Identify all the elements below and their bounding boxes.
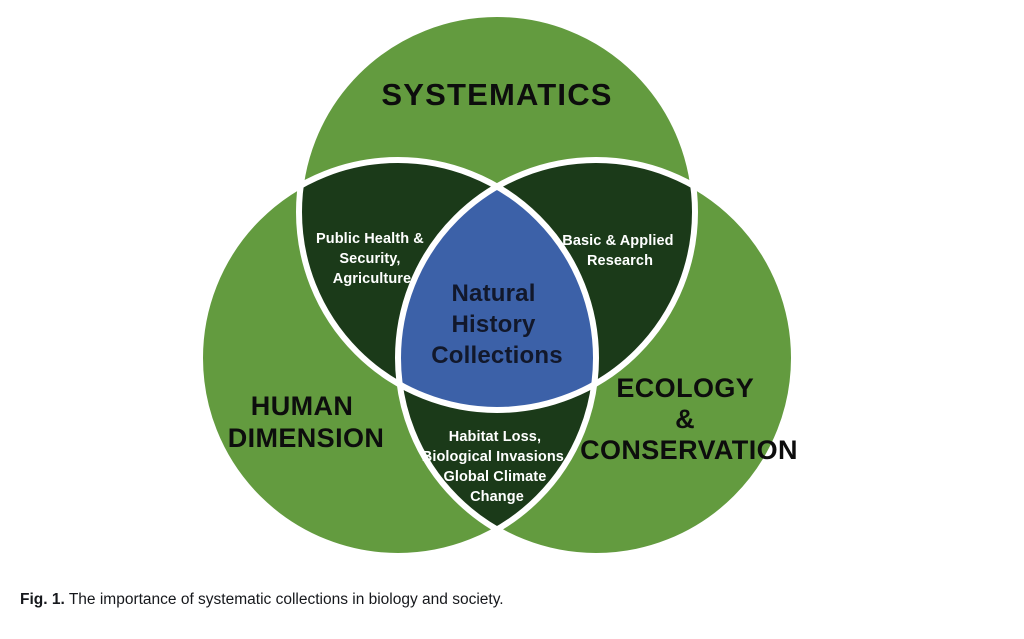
caption-label: Fig. 1. [20,591,65,608]
venn-diagram: SYSTEMATICS HUMAN DIMENSION ECOLOGY & CO… [0,0,1024,570]
figure-caption-bar: Fig. 1. The importance of systematic col… [0,572,1024,639]
figure-caption: Fig. 1. The importance of systematic col… [20,590,504,611]
figure-root: SYSTEMATICS HUMAN DIMENSION ECOLOGY & CO… [0,0,1024,639]
label-systematics: SYSTEMATICS [381,77,612,112]
venn-svg: SYSTEMATICS HUMAN DIMENSION ECOLOGY & CO… [0,0,1024,570]
caption-text: The importance of systematic collections… [69,591,504,608]
